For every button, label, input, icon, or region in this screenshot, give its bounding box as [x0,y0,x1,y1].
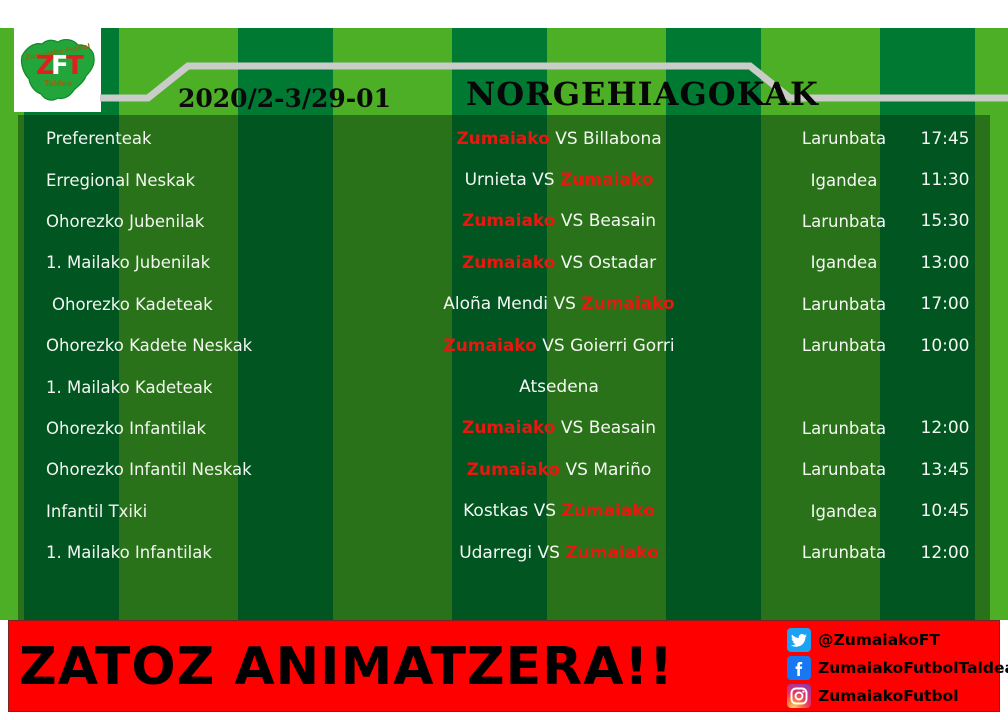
table-row: 1. Mailako KadeteakAtsedena [18,366,990,407]
page-title: NORGEHIAGOKAK [466,75,816,113]
time-cell: 12:00 [904,543,990,563]
table-row: 1. Mailako JubenilakZumaiako VS OstadarI… [18,242,990,283]
match-cell: Zumaiako VS Goierri Gorri [348,336,784,356]
day-cell: Larunbata [784,295,904,314]
time-cell: 17:00 [904,294,990,314]
table-row: Infantil TxikiKostkas VS ZumaiakoIgandea… [18,491,990,532]
category-cell: Ohorezko Kadete Neskak [18,336,348,355]
time-cell: 13:45 [904,460,990,480]
match-cell: Zumaiako VS Beasain [348,211,784,231]
away-team: Beasain [589,211,656,231]
table-row: Ohorezko JubenilakZumaiako VS BeasainLar… [18,201,990,242]
day-cell: Larunbata [784,212,904,231]
match-schedule-poster: Zumaiako Futbol Taldea Z F T 2020/2-3/29… [0,0,1008,720]
away-team: Zumaiako [565,543,658,563]
away-team: Zumaiako [560,170,653,190]
category-cell: 1. Mailako Kadeteak [18,378,348,397]
versus-label: VS [561,211,583,231]
home-team: Urnieta [465,170,527,190]
match-cell: Atsedena [348,377,784,397]
schedule-table: PreferenteakZumaiako VS BillabonaLarunba… [18,118,990,573]
home-team: Zumaiako [462,211,555,231]
social-links: @ZumaiakoFT ZumaiakoFutbolTaldea [787,626,999,710]
home-team: Zumaiako [467,460,560,480]
day-cell: Igandea [784,502,904,521]
date-range-label: 2020/2-3/29-01 [178,84,391,113]
versus-label: VS [561,253,583,273]
away-team: Beasain [589,418,656,438]
away-team: Billabona [583,129,662,149]
table-row: Ohorezko InfantilakZumaiako VS BeasainLa… [18,408,990,449]
away-team: Zumaiako [581,294,674,314]
versus-label: VS [542,336,564,356]
table-row: PreferenteakZumaiako VS BillabonaLarunba… [18,118,990,159]
twitter-handle: @ZumaiakoFT [818,631,940,649]
match-cell: Zumaiako VS Ostadar [348,253,784,273]
category-cell: 1. Mailako Jubenilak [18,253,348,272]
time-cell: 10:45 [904,501,990,521]
match-cell: Udarregi VS Zumaiako [348,543,784,563]
match-cell: Zumaiako VS Mariño [348,460,784,480]
day-cell: Larunbata [784,419,904,438]
banner-slogan: ZATOZ ANIMATZERA!! [19,633,789,701]
versus-label: VS [538,543,560,563]
facebook-icon [787,656,811,680]
twitter-icon [787,628,811,652]
home-team: Aloña Mendi [443,294,548,314]
category-cell: Ohorezko Jubenilak [18,212,348,231]
category-cell: 1. Mailako Infantilak [18,543,348,562]
poster-header: Zumaiako Futbol Taldea Z F T 2020/2-3/29… [0,28,1008,115]
versus-label: VS [561,418,583,438]
time-cell: 10:00 [904,336,990,356]
match-cell: Zumaiako VS Billabona [348,129,784,149]
social-link-facebook[interactable]: ZumaiakoFutbolTaldea [787,655,999,681]
table-row: 1. Mailako InfantilakUdarregi VS Zumaiak… [18,532,990,573]
home-team: Zumaiako [456,129,549,149]
table-row: Ohorezko Kadete NeskakZumaiako VS Goierr… [18,325,990,366]
time-cell: 17:45 [904,129,990,149]
table-row: Ohorezko KadeteakAloña Mendi VS Zumaiako… [18,284,990,325]
day-cell: Larunbata [784,129,904,148]
match-cell: Aloña Mendi VS Zumaiako [348,294,784,314]
instagram-handle: ZumaiakoFutbol [818,687,959,705]
svg-text:T: T [66,51,84,81]
versus-label: VS [566,460,588,480]
home-team: Udarregi [459,543,532,563]
match-cell: Kostkas VS Zumaiako [348,501,784,521]
home-team: Zumaiako [462,253,555,273]
facebook-handle: ZumaiakoFutbolTaldea [818,659,1008,677]
home-team: Zumaiako [462,418,555,438]
category-cell: Erregional Neskak [18,171,348,190]
versus-label: VS [553,294,575,314]
away-team: Zumaiako [561,501,654,521]
away-team: Goierri Gorri [570,336,675,356]
category-cell: Ohorezko Kadeteak [18,295,348,314]
day-cell: Larunbata [784,460,904,479]
instagram-icon [787,684,811,708]
club-logo: Zumaiako Futbol Taldea Z F T [14,28,101,112]
match-cell: Urnieta VS Zumaiako [348,170,784,190]
time-cell: 15:30 [904,211,990,231]
versus-label: VS [534,501,556,521]
versus-label: VS [555,129,577,149]
away-team: Mariño [593,460,651,480]
time-cell: 11:30 [904,170,990,190]
versus-label: VS [532,170,554,190]
day-cell: Igandea [784,253,904,272]
table-row: Erregional NeskakUrnieta VS ZumaiakoIgan… [18,159,990,200]
day-cell: Larunbata [784,336,904,355]
table-row: Ohorezko Infantil NeskakZumaiako VS Mari… [18,449,990,490]
category-cell: Infantil Txiki [18,502,348,521]
category-cell: Ohorezko Infantil Neskak [18,460,348,479]
match-cell: Zumaiako VS Beasain [348,418,784,438]
social-link-instagram[interactable]: ZumaiakoFutbol [787,683,999,709]
social-link-twitter[interactable]: @ZumaiakoFT [787,627,999,653]
category-cell: Preferenteak [18,129,348,148]
home-team: Zumaiako [443,336,536,356]
home-team: Kostkas [463,501,528,521]
category-cell: Ohorezko Infantilak [18,419,348,438]
time-cell: 13:00 [904,253,990,273]
call-to-action-banner: ZATOZ ANIMATZERA!! @ZumaiakoFT ZumaiakoF… [8,620,1000,712]
match-note: Atsedena [519,377,599,397]
away-team: Ostadar [589,253,657,273]
time-cell: 12:00 [904,418,990,438]
day-cell: Igandea [784,171,904,190]
day-cell: Larunbata [784,543,904,562]
